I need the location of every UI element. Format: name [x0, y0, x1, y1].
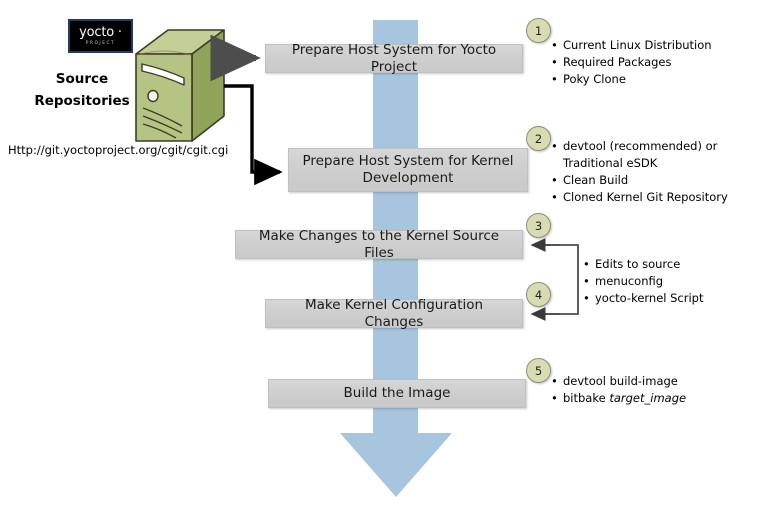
- bullet-item: Clean Build: [551, 172, 728, 189]
- process-box-prepare-host-kernel[interactable]: Prepare Host System for Kernel Developme…: [288, 148, 528, 192]
- bullet-item-bitbake: bitbake target_image: [551, 390, 686, 407]
- bullet-item: Poky Clone: [551, 71, 712, 88]
- process-box-label: Build the Image: [344, 385, 451, 402]
- process-box-make-changes-kernel-source[interactable]: Make Changes to the Kernel Source Files: [235, 230, 523, 259]
- step-number-circle-5: 5: [526, 358, 551, 383]
- bullet-item: Edits to source: [583, 256, 704, 273]
- step-number-circle-2: 2: [526, 126, 551, 151]
- step-number-circle-1: 1: [526, 18, 551, 43]
- step-5-bullet-list: devtool build-image bitbake target_image: [551, 373, 686, 407]
- source-label-line1: Source: [26, 68, 138, 90]
- process-box-label: Prepare Host System for Kernel Developme…: [302, 153, 513, 187]
- bullet-item: Cloned Kernel Git Repository: [551, 189, 728, 206]
- process-box-make-kernel-config-changes[interactable]: Make Kernel Configuration Changes: [265, 299, 523, 328]
- main-flow-arrow-head: [340, 433, 452, 497]
- step-number-text: 2: [535, 132, 542, 146]
- bullet-item: yocto-kernel Script: [583, 290, 704, 307]
- step-number-text: 5: [535, 364, 542, 378]
- step-number-text: 1: [535, 24, 542, 38]
- step-2-bullet-list: devtool (recommended) or Traditional eSD…: [551, 138, 728, 206]
- bitbake-target-image-arg: target_image: [609, 391, 686, 405]
- diagram-canvas: yocto · PROJECT Source Repositories Http…: [0, 0, 769, 517]
- bullet-item: menuconfig: [583, 273, 704, 290]
- yocto-logo-wordmark: yocto ·: [79, 26, 122, 39]
- step-number-text: 3: [535, 219, 542, 233]
- bitbake-command-prefix: bitbake: [563, 391, 609, 405]
- bullet-item-continuation: Traditional eSDK: [551, 155, 728, 172]
- source-repositories-url: Http://git.yoctoproject.org/cgit/cgit.cg…: [8, 143, 228, 157]
- bullet-item: Required Packages: [551, 54, 712, 71]
- step-3-4-bullet-list: Edits to source menuconfig yocto-kernel …: [583, 256, 704, 307]
- process-box-label-line1: Prepare Host System for Kernel: [302, 153, 513, 169]
- process-box-label-line2: Development: [363, 170, 454, 186]
- source-label-line2: Repositories: [26, 90, 138, 112]
- process-box-label: Make Kernel Configuration Changes: [276, 297, 512, 331]
- process-box-label: Prepare Host System for Yocto Project: [276, 42, 512, 76]
- bullet-item: devtool build-image: [551, 373, 686, 390]
- step-number-circle-4: 4: [526, 282, 551, 307]
- step-number-text: 4: [535, 288, 542, 302]
- step-number-circle-3: 3: [526, 213, 551, 238]
- process-box-label: Make Changes to the Kernel Source Files: [246, 228, 512, 262]
- bullet-item: Current Linux Distribution: [551, 37, 712, 54]
- server-tower-icon: [134, 28, 226, 145]
- process-box-build-the-image[interactable]: Build the Image: [268, 379, 526, 408]
- yocto-project-logo: yocto · PROJECT: [68, 19, 133, 53]
- source-repositories-label: Source Repositories: [26, 68, 138, 112]
- bullet-item: devtool (recommended) or: [551, 138, 728, 155]
- step-1-bullet-list: Current Linux Distribution Required Pack…: [551, 37, 712, 88]
- yocto-logo-subtext: PROJECT: [86, 40, 115, 46]
- process-box-prepare-host-yocto[interactable]: Prepare Host System for Yocto Project: [265, 44, 523, 73]
